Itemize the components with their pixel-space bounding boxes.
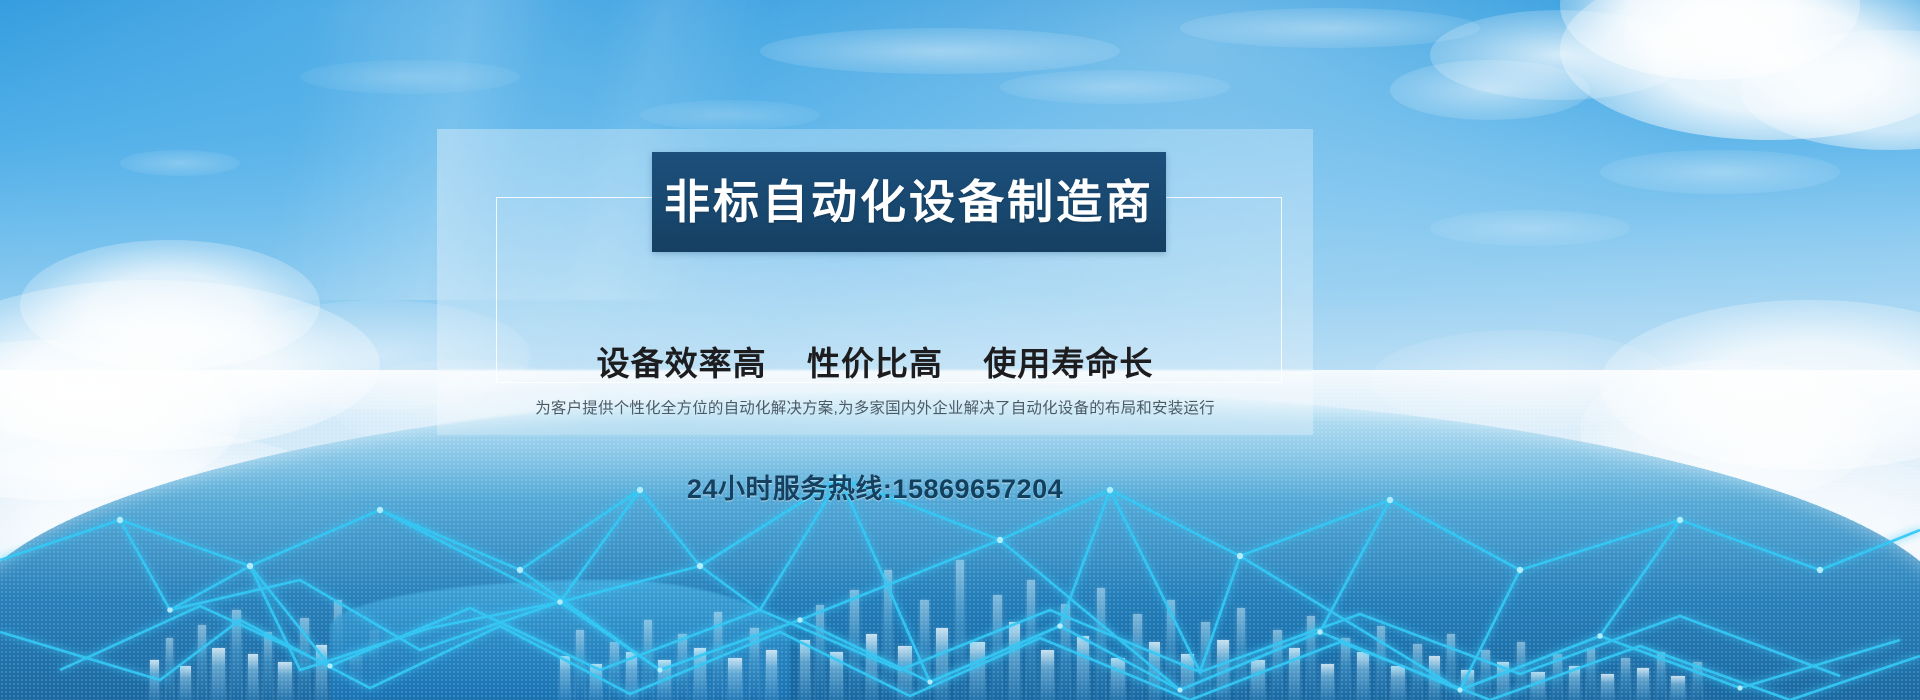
page-title: 非标自动化设备制造商 (664, 179, 1154, 225)
description-text: 为客户提供个性化全方位的自动化解决方案,为多家国内外企业解决了自动化设备的布局和… (350, 396, 1400, 418)
hotline[interactable]: 24小时服务热线:15869657204 (437, 467, 1313, 506)
subheadline-part-2: 性价比高 (807, 345, 943, 382)
subheadline: 设备效率高 性价比高 使用寿命长 (437, 337, 1313, 385)
main-title-box: 非标自动化设备制造商 (652, 152, 1166, 252)
hotline-label: 24小时服务热线: (687, 474, 893, 504)
hero-banner: 非标自动化设备制造商 设备效率高 性价比高 使用寿命长 为客户提供个性化全方位的… (0, 0, 1920, 700)
subheadline-part-1: 设备效率高 (597, 345, 767, 382)
subheadline-part-3: 使用寿命长 (983, 345, 1153, 382)
hotline-number[interactable]: 15869657204 (892, 474, 1063, 504)
